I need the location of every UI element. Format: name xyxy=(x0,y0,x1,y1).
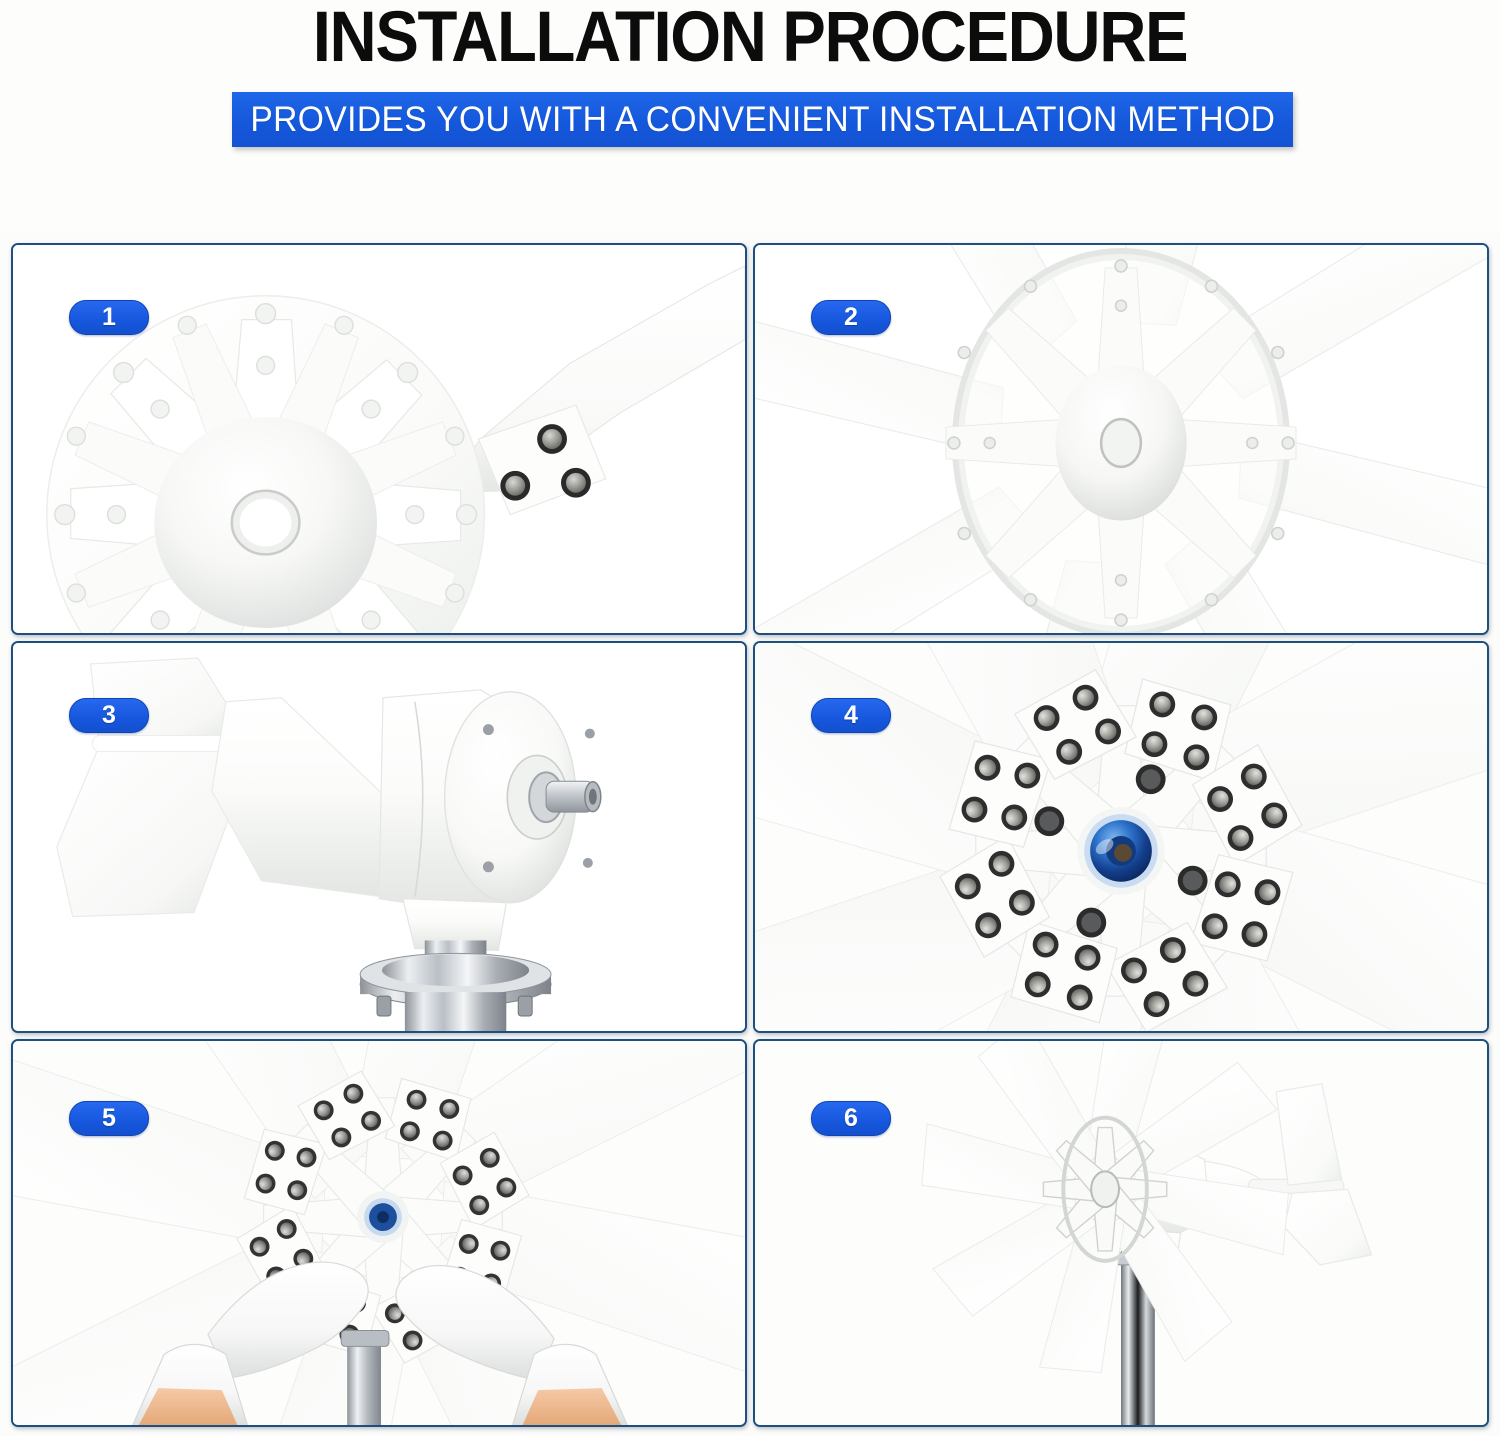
step-number-4: 4 xyxy=(844,703,858,728)
page-title: INSTALLATION PROCEDURE xyxy=(60,0,1440,78)
step-badge-5: 5 xyxy=(69,1101,149,1136)
procedure-step-grid: 1 xyxy=(8,240,1492,1430)
step-panel-4: 4 xyxy=(753,641,1489,1033)
step-number-5: 5 xyxy=(102,1106,116,1131)
step-badge-1: 1 xyxy=(69,300,149,335)
step-panel-6: 6 xyxy=(753,1039,1489,1427)
page-header: INSTALLATION PROCEDURE PROVIDES YOU WITH… xyxy=(0,0,1500,232)
subtitle-text: PROVIDES YOU WITH A CONVENIENT INSTALLAT… xyxy=(250,100,1275,140)
completed-turbine-illustration xyxy=(755,1041,1487,1425)
step-panel-2: 2 xyxy=(753,243,1489,635)
step-badge-4: 4 xyxy=(811,698,891,733)
step-number-1: 1 xyxy=(102,305,116,330)
step-number-3: 3 xyxy=(102,703,116,728)
step-number-2: 2 xyxy=(844,305,858,330)
step-badge-6: 6 xyxy=(811,1101,891,1136)
subtitle-banner: PROVIDES YOU WITH A CONVENIENT INSTALLAT… xyxy=(232,92,1293,147)
step-panel-3: 3 xyxy=(11,641,747,1033)
step-badge-2: 2 xyxy=(811,300,891,335)
step-panel-5: 5 xyxy=(11,1039,747,1427)
mounting-rotor-by-hand-illustration xyxy=(13,1041,745,1425)
step-badge-3: 3 xyxy=(69,698,149,733)
step-panel-1: 1 xyxy=(11,243,747,635)
step-number-6: 6 xyxy=(844,1106,858,1131)
